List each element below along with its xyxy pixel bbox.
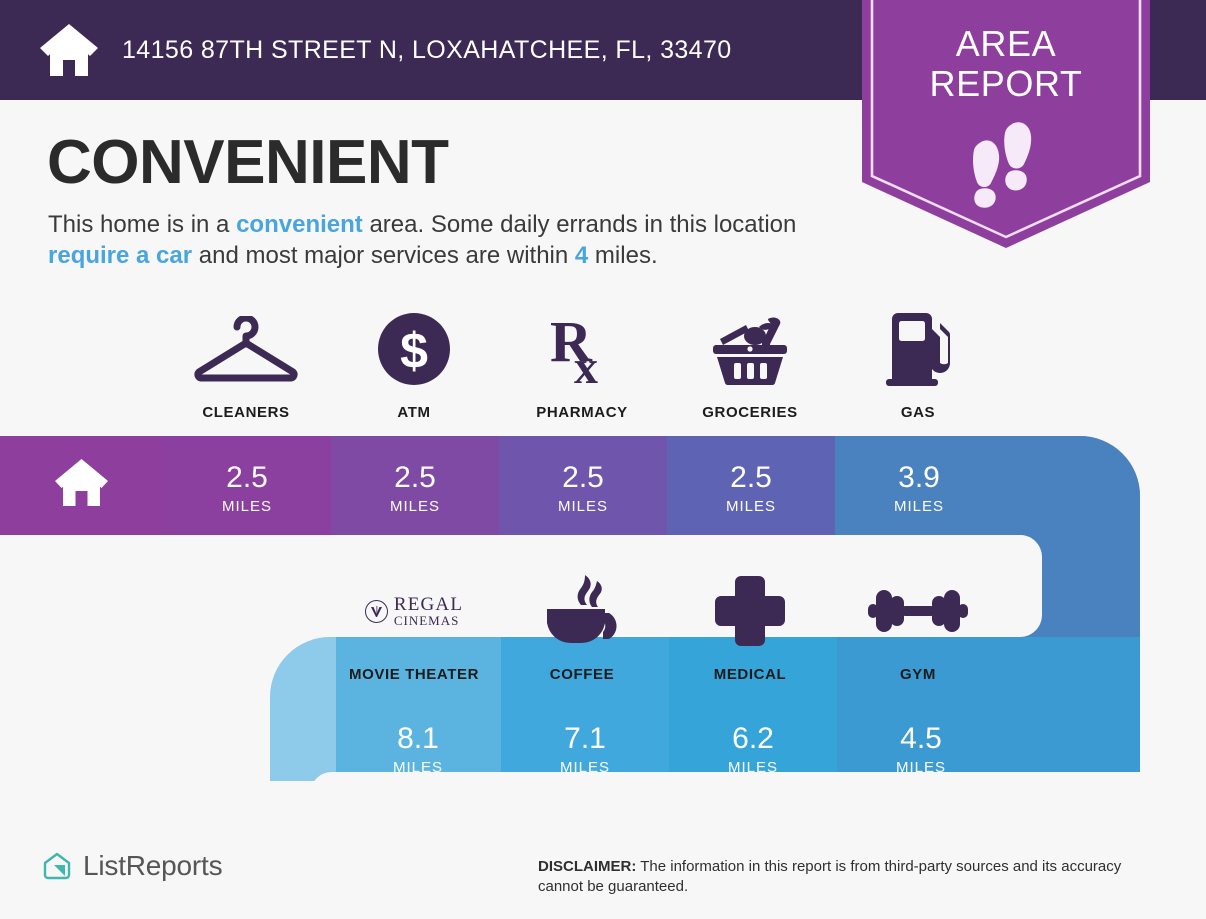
amenity-groceries: GROCERIES <box>666 310 834 421</box>
regal-cinemas-logo: REGAL CINEMAS <box>365 572 463 650</box>
amenity-gym: GYM <box>834 572 1002 683</box>
amenity-icon-row-primary: CLEANERS $ ATM R x PHARMACY <box>162 310 1170 421</box>
disclaimer: DISCLAIMER: The information in this repo… <box>538 857 1163 897</box>
subtitle-part-1: This home is in a <box>48 211 236 238</box>
amenity-icon-row-secondary: REGAL CINEMAS MOVIE THEATER <box>330 572 1170 683</box>
basket-icon <box>706 310 794 388</box>
bar1-segment-gas <box>835 436 1003 535</box>
rx-icon: R x <box>548 310 616 388</box>
regal-line-2: CINEMAS <box>394 614 463 627</box>
listreports-wordmark: ListReports <box>83 850 222 882</box>
amenity-movie-theater: REGAL CINEMAS MOVIE THEATER <box>330 572 498 683</box>
amenity-coffee: COFFEE <box>498 572 666 683</box>
subtitle-highlight-require-a-car: require a car <box>48 242 192 269</box>
amenity-pharmacy: R x PHARMACY <box>498 310 666 421</box>
svg-text:$: $ <box>400 323 428 379</box>
subtitle-highlight-convenient: convenient <box>236 211 363 238</box>
dumbbell-icon <box>868 572 968 650</box>
badge-line-1: AREA <box>862 24 1150 64</box>
amenity-label: MEDICAL <box>714 666 787 683</box>
listreports-logo[interactable]: ListReports <box>42 850 222 882</box>
amenity-gas: GAS <box>834 310 1002 421</box>
coffee-cup-icon <box>539 572 625 650</box>
page-subtitle: This home is in a convenient area. Some … <box>48 210 848 271</box>
dollar-coin-icon: $ <box>376 310 452 388</box>
amenity-label: GROCERIES <box>702 404 797 421</box>
regal-mark-icon <box>365 600 388 623</box>
amenity-label: GYM <box>900 666 936 683</box>
regal-line-1: REGAL <box>394 595 463 614</box>
bar1-segment-cleaners <box>163 436 331 535</box>
amenity-label: COFFEE <box>550 666 614 683</box>
page-title: CONVENIENT <box>47 132 448 194</box>
amenity-medical: MEDICAL <box>666 572 834 683</box>
area-report-page: 14156 87TH STREET N, LOXAHATCHEE, FL, 33… <box>0 0 1206 919</box>
badge-title: AREA REPORT <box>862 24 1150 105</box>
amenity-atm: $ ATM <box>330 310 498 421</box>
bar1-segment-groceries <box>667 436 835 535</box>
area-report-badge: AREA REPORT <box>862 0 1150 248</box>
bar1-segment-atm <box>331 436 499 535</box>
subtitle-part-4: miles. <box>588 242 657 269</box>
listreports-house-icon <box>42 851 72 881</box>
disclaimer-label: DISCLAIMER: <box>538 858 636 875</box>
regal-wordmark: REGAL CINEMAS <box>394 595 463 628</box>
amenity-cleaners: CLEANERS <box>162 310 330 421</box>
bar1-segment-tail <box>1003 436 1143 535</box>
bar-row-1 <box>0 436 1143 535</box>
subtitle-part-3: and most major services are within <box>192 242 575 269</box>
amenity-label: PHARMACY <box>536 404 627 421</box>
amenity-label: GAS <box>901 404 935 421</box>
amenity-label: ATM <box>397 404 430 421</box>
badge-line-2: REPORT <box>862 64 1150 104</box>
home-icon-bar <box>54 458 109 508</box>
medical-cross-icon <box>713 572 787 650</box>
hanger-icon <box>193 310 299 388</box>
footer-inset-fill <box>332 781 1206 836</box>
subtitle-highlight-miles: 4 <box>575 242 588 269</box>
subtitle-part-2: area. Some daily errands in this locatio… <box>363 211 797 238</box>
property-address: 14156 87TH STREET N, LOXAHATCHEE, FL, 33… <box>122 36 732 65</box>
amenity-label: CLEANERS <box>202 404 289 421</box>
svg-text:x: x <box>574 341 598 387</box>
home-icon <box>38 22 100 78</box>
amenity-label: MOVIE THEATER <box>349 666 479 683</box>
fuel-pump-icon <box>882 310 954 388</box>
bar1-segment-pharmacy <box>499 436 667 535</box>
